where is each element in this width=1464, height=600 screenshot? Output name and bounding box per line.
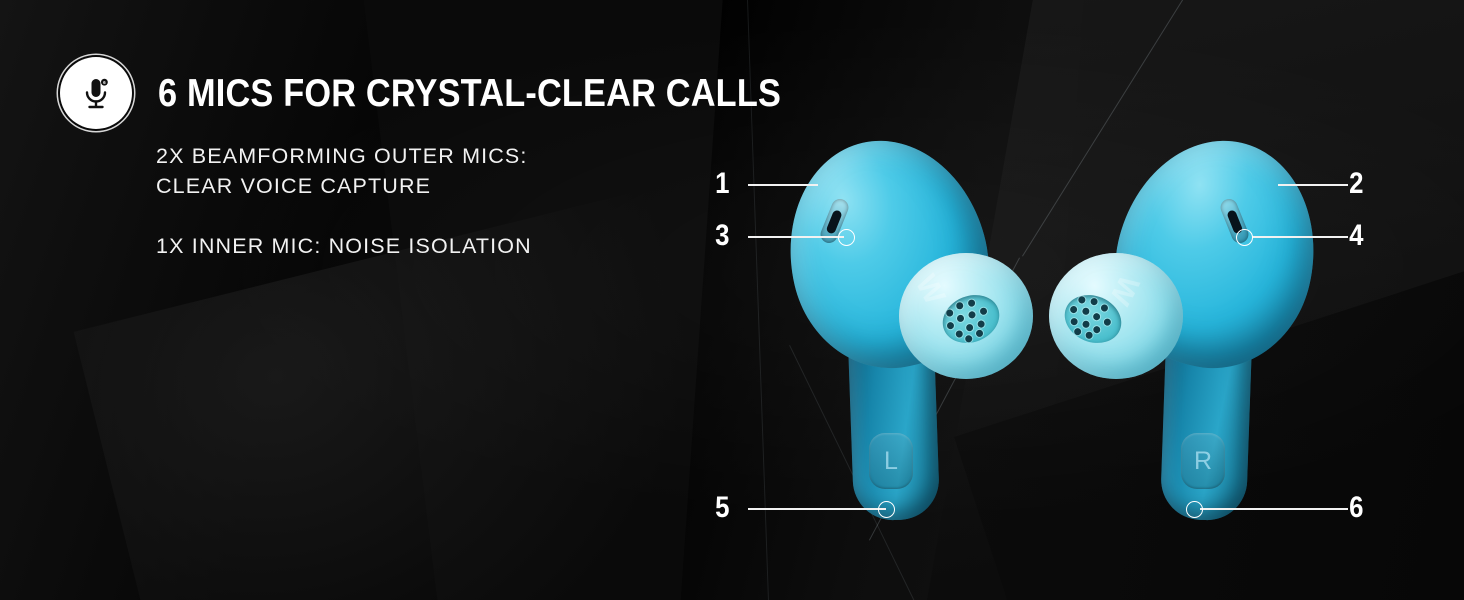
callout-line-6 — [1200, 508, 1348, 510]
product-image: L W R W — [0, 0, 1464, 600]
callout-line-2 — [1278, 184, 1348, 186]
callout-number-5: 5 — [715, 493, 729, 523]
callout-line-5 — [748, 508, 886, 510]
callout-number-1: 1 — [715, 169, 729, 199]
product-feature-banner: 6 6 MICS FOR CRYSTAL-CLEAR CALLS 2X BEAM… — [0, 0, 1464, 600]
earbud-left-marking: L — [869, 433, 913, 489]
callout-number-2: 2 — [1349, 169, 1363, 199]
callout-line-4 — [1252, 236, 1348, 238]
callout-ring-5 — [878, 501, 895, 518]
callout-line-1 — [748, 184, 818, 186]
callout-number-6: 6 — [1349, 493, 1363, 523]
callout-number-4: 4 — [1349, 221, 1363, 251]
callout-line-3 — [748, 236, 844, 238]
callout-number-3: 3 — [715, 221, 729, 251]
callout-ring-4 — [1236, 229, 1253, 246]
callout-ring-6 — [1186, 501, 1203, 518]
earbud-right-marking: R — [1181, 433, 1225, 489]
callout-ring-3 — [838, 229, 855, 246]
